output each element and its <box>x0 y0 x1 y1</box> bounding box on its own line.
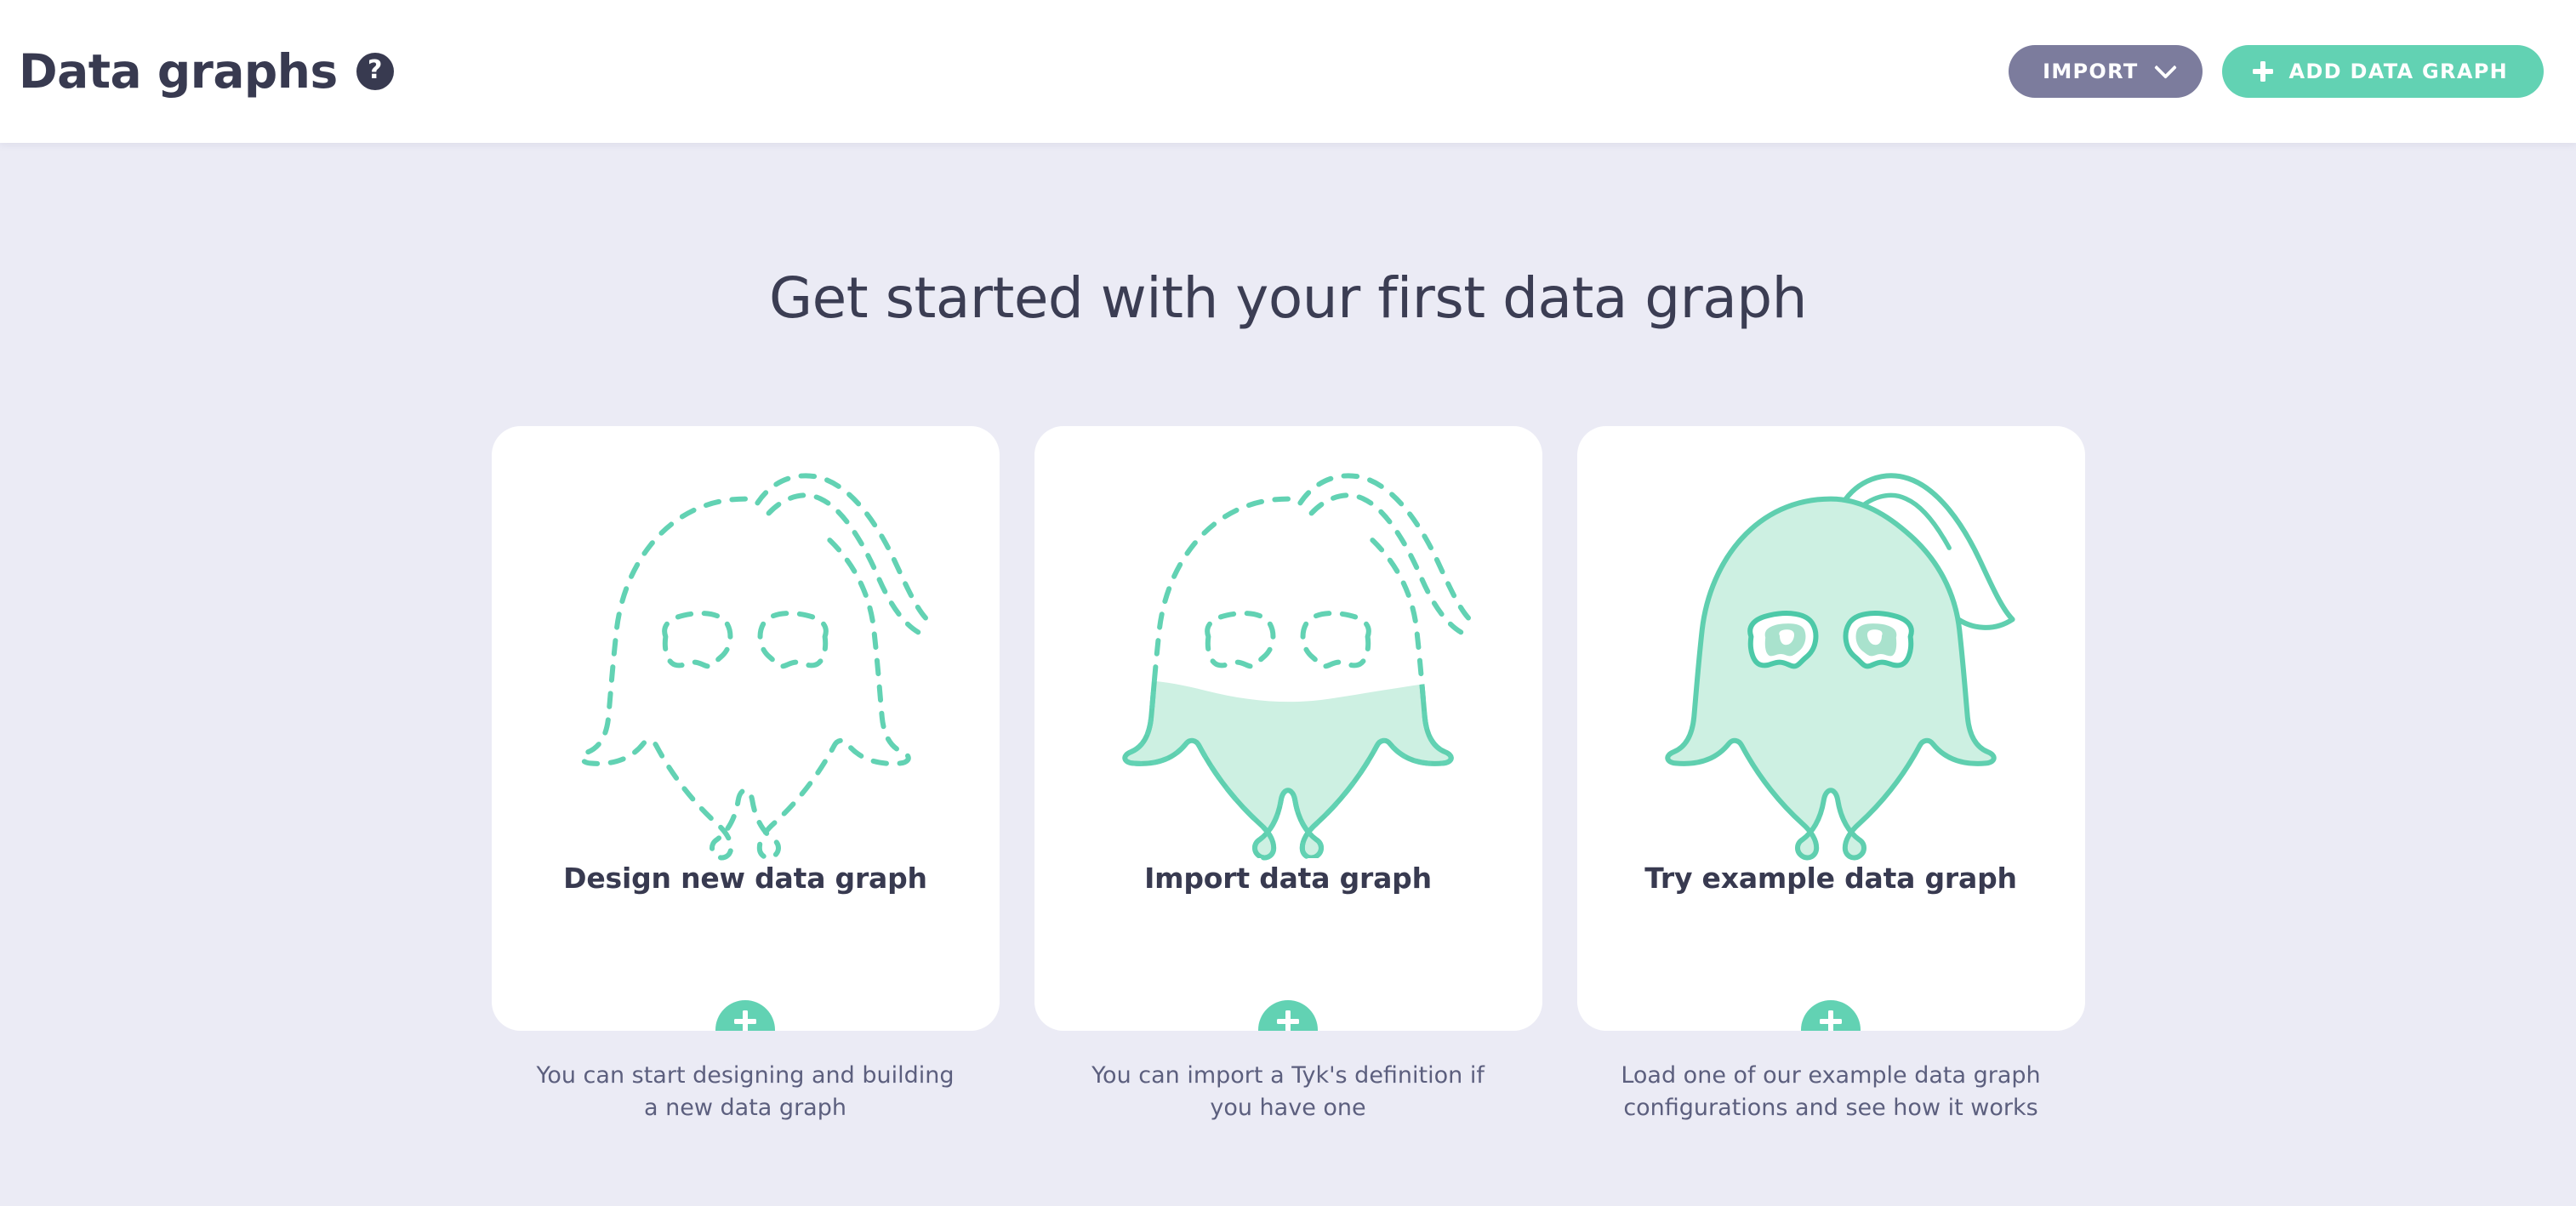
app-header: Data graphs ? IMPORT ADD DATA GRAPH <box>0 0 2576 143</box>
header-actions: IMPORT ADD DATA GRAPH <box>2009 45 2544 98</box>
tyk-mascot-filled-icon <box>1610 450 2052 858</box>
page-headline: Get started with your first data graph <box>0 143 2576 327</box>
card-title: Design new data graph <box>563 863 927 894</box>
help-icon[interactable]: ? <box>356 53 394 90</box>
import-button[interactable]: IMPORT <box>2009 45 2202 98</box>
onboarding-card-column: Try example data graph Load one of our e… <box>1577 426 2085 1125</box>
try-example-data-graph-card[interactable]: Try example data graph <box>1577 426 2085 1031</box>
design-new-data-graph-card[interactable]: Design new data graph <box>492 426 1000 1031</box>
main-content: Get started with your first data graph <box>0 143 2576 1206</box>
page-title: Data graphs <box>19 48 338 95</box>
plus-icon <box>1277 1010 1299 1031</box>
card-title: Try example data graph <box>1644 863 2017 894</box>
chevron-down-icon <box>2154 56 2177 79</box>
import-button-label: IMPORT <box>2043 60 2138 83</box>
add-data-graph-button[interactable]: ADD DATA GRAPH <box>2222 45 2544 98</box>
try-example-data-graph-add-button[interactable] <box>1801 1000 1861 1031</box>
add-data-graph-button-label: ADD DATA GRAPH <box>2289 60 2508 83</box>
card-description: Load one of our example data graph confi… <box>1614 1060 2048 1125</box>
plus-icon <box>734 1010 756 1031</box>
import-data-graph-card[interactable]: Import data graph <box>1034 426 1542 1031</box>
onboarding-card-row: Design new data graph You can start desi… <box>0 426 2576 1125</box>
plus-icon <box>2253 61 2273 82</box>
tyk-mascot-half-filled-icon <box>1067 450 1509 858</box>
tyk-mascot-outline-icon <box>524 450 966 858</box>
header-left-group: Data graphs ? <box>19 48 394 95</box>
onboarding-card-column: Design new data graph You can start desi… <box>492 426 1000 1125</box>
card-title: Import data graph <box>1144 863 1432 894</box>
card-description: You can import a Tyk's definition if you… <box>1071 1060 1505 1125</box>
import-data-graph-add-button[interactable] <box>1258 1000 1318 1031</box>
plus-icon <box>1820 1010 1842 1031</box>
design-new-data-graph-add-button[interactable] <box>715 1000 775 1031</box>
card-description: You can start designing and building a n… <box>528 1060 962 1125</box>
onboarding-card-column: Import data graph You can import a Tyk's… <box>1034 426 1542 1125</box>
